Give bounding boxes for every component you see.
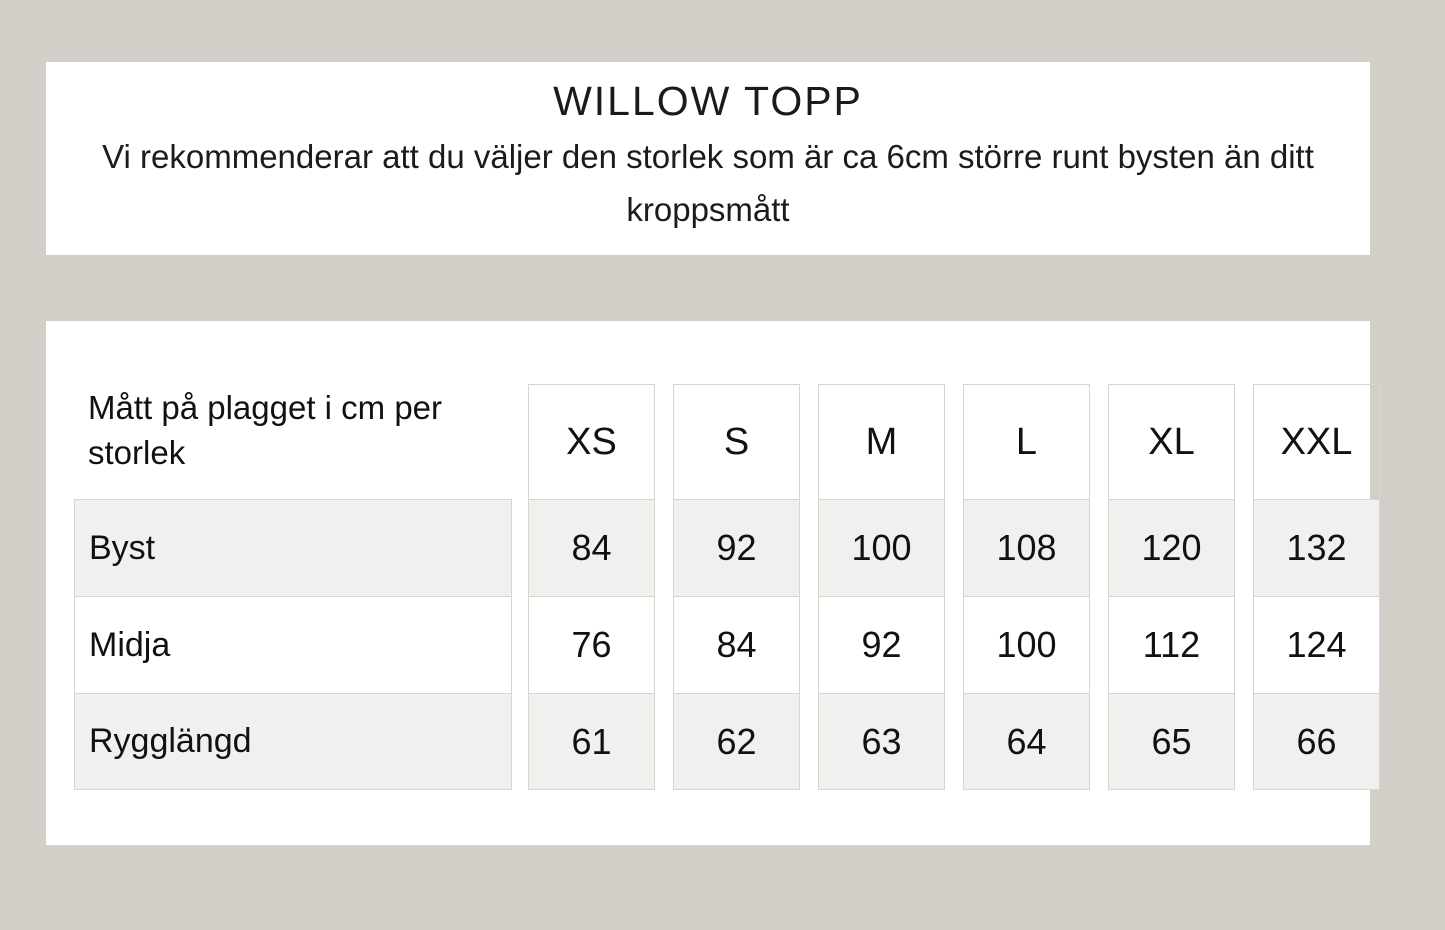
size-column-xl: XL 120 112 65 xyxy=(1108,384,1235,790)
size-header-xs: XS xyxy=(528,384,655,499)
cell-byst-l: 108 xyxy=(963,499,1090,596)
table-row-label-rygglangd: Rygglängd xyxy=(74,693,512,790)
size-table: Mått på plagget i cm per storlek Byst Mi… xyxy=(74,384,1380,790)
size-column-xs: XS 84 76 61 xyxy=(528,384,655,790)
cell-midja-l: 100 xyxy=(963,596,1090,693)
size-header-l: L xyxy=(963,384,1090,499)
cell-midja-m: 92 xyxy=(818,596,945,693)
size-recommendation-text: Vi rekommenderar att du väljer den storl… xyxy=(78,131,1338,237)
table-row-label-byst: Byst xyxy=(74,499,512,596)
cell-byst-m: 100 xyxy=(818,499,945,596)
size-column-l: L 108 100 64 xyxy=(963,384,1090,790)
cell-rygglangd-xs: 61 xyxy=(528,693,655,790)
cell-byst-s: 92 xyxy=(673,499,800,596)
cell-midja-xxl: 124 xyxy=(1253,596,1380,693)
size-header-xl: XL xyxy=(1108,384,1235,499)
cell-rygglangd-xl: 65 xyxy=(1108,693,1235,790)
cell-midja-xs: 76 xyxy=(528,596,655,693)
page-title: WILLOW TOPP xyxy=(553,76,863,127)
size-header-xxl: XXL xyxy=(1253,384,1380,499)
table-row-label-midja: Midja xyxy=(74,596,512,693)
size-column-s: S 92 84 62 xyxy=(673,384,800,790)
cell-rygglangd-xxl: 66 xyxy=(1253,693,1380,790)
size-columns: XS 84 76 61 S 92 84 62 M 100 92 63 xyxy=(528,384,1380,790)
size-chart-page: WILLOW TOPP Vi rekommenderar att du välj… xyxy=(0,0,1445,930)
size-column-xxl: XXL 132 124 66 xyxy=(1253,384,1380,790)
size-header-m: M xyxy=(818,384,945,499)
size-table-panel: Mått på plagget i cm per storlek Byst Mi… xyxy=(46,321,1370,845)
cell-byst-xxl: 132 xyxy=(1253,499,1380,596)
size-column-m: M 100 92 63 xyxy=(818,384,945,790)
measurement-label-column: Mått på plagget i cm per storlek Byst Mi… xyxy=(74,384,512,790)
table-corner-label: Mått på plagget i cm per storlek xyxy=(74,384,512,499)
cell-rygglangd-m: 63 xyxy=(818,693,945,790)
size-header-s: S xyxy=(673,384,800,499)
cell-midja-xl: 112 xyxy=(1108,596,1235,693)
cell-byst-xs: 84 xyxy=(528,499,655,596)
cell-rygglangd-s: 62 xyxy=(673,693,800,790)
cell-rygglangd-l: 64 xyxy=(963,693,1090,790)
cell-midja-s: 84 xyxy=(673,596,800,693)
cell-byst-xl: 120 xyxy=(1108,499,1235,596)
header-panel: WILLOW TOPP Vi rekommenderar att du välj… xyxy=(46,62,1370,255)
